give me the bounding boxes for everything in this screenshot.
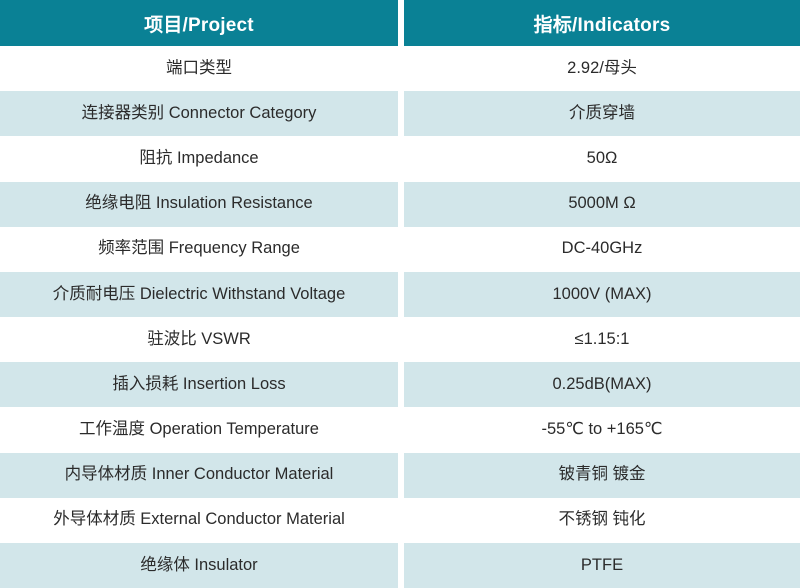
cell-project: 绝缘电阻 Insulation Resistance	[0, 182, 398, 227]
column-header-project: 项目/Project	[0, 0, 398, 46]
table-row: 阻抗 Impedance50Ω	[0, 136, 800, 181]
cell-project: 阻抗 Impedance	[0, 136, 398, 181]
column-header-indicators: 指标/Indicators	[404, 0, 800, 46]
cell-project: 绝缘体 Insulator	[0, 543, 398, 588]
cell-project: 连接器类别 Connector Category	[0, 91, 398, 136]
cell-indicator: 2.92/母头	[404, 46, 800, 91]
table-row: 绝缘体 InsulatorPTFE	[0, 543, 800, 588]
cell-indicator: ≤1.15:1	[404, 317, 800, 362]
cell-project: 频率范围 Frequency Range	[0, 227, 398, 272]
cell-indicator: 50Ω	[404, 136, 800, 181]
table-row: 工作温度 Operation Temperature-55℃ to +165℃	[0, 407, 800, 452]
table-row: 频率范围 Frequency RangeDC-40GHz	[0, 227, 800, 272]
cell-project: 介质耐电压 Dielectric Withstand Voltage	[0, 272, 398, 317]
table-row: 驻波比 VSWR≤1.15:1	[0, 317, 800, 362]
table-row: 绝缘电阻 Insulation Resistance5000M Ω	[0, 182, 800, 227]
cell-project: 插入损耗 Insertion Loss	[0, 362, 398, 407]
cell-indicator: 介质穿墙	[404, 91, 800, 136]
cell-indicator: PTFE	[404, 543, 800, 588]
specification-table: 项目/Project 指标/Indicators 端口类型2.92/母头连接器类…	[0, 0, 800, 588]
cell-indicator: 5000M Ω	[404, 182, 800, 227]
table-header-row: 项目/Project 指标/Indicators	[0, 0, 800, 46]
cell-indicator: 不锈钢 钝化	[404, 498, 800, 543]
table-row: 介质耐电压 Dielectric Withstand Voltage1000V …	[0, 272, 800, 317]
table-body: 端口类型2.92/母头连接器类别 Connector Category介质穿墙阻…	[0, 46, 800, 588]
cell-indicator: 1000V (MAX)	[404, 272, 800, 317]
cell-project: 驻波比 VSWR	[0, 317, 398, 362]
table-row: 插入损耗 Insertion Loss0.25dB(MAX)	[0, 362, 800, 407]
table-row: 内导体材质 Inner Conductor Material铍青铜 镀金	[0, 453, 800, 498]
cell-indicator: DC-40GHz	[404, 227, 800, 272]
table-row: 外导体材质 External Conductor Material不锈钢 钝化	[0, 498, 800, 543]
table-row: 连接器类别 Connector Category介质穿墙	[0, 91, 800, 136]
cell-indicator: 0.25dB(MAX)	[404, 362, 800, 407]
cell-project: 内导体材质 Inner Conductor Material	[0, 453, 398, 498]
table-row: 端口类型2.92/母头	[0, 46, 800, 91]
cell-indicator: -55℃ to +165℃	[404, 407, 800, 452]
cell-project: 工作温度 Operation Temperature	[0, 407, 398, 452]
cell-indicator: 铍青铜 镀金	[404, 453, 800, 498]
cell-project: 端口类型	[0, 46, 398, 91]
cell-project: 外导体材质 External Conductor Material	[0, 498, 398, 543]
